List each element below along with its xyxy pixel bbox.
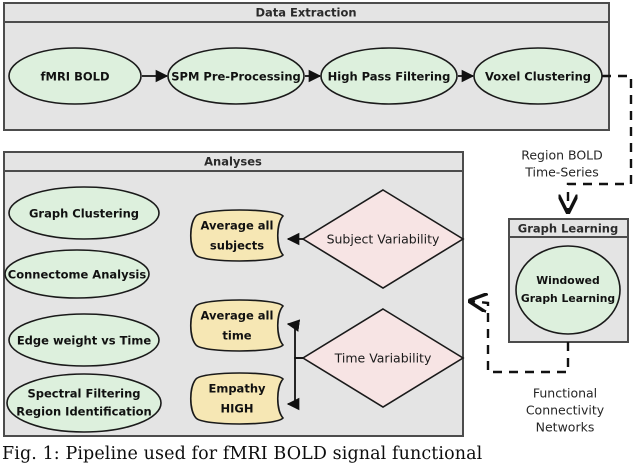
node-spectral-filtering[interactable] <box>7 374 161 432</box>
figure-caption-text: Fig. 1: Pipeline used for fMRI BOLD sign… <box>0 444 640 464</box>
node-windowed-graph-learning-line2: Graph Learning <box>521 292 615 305</box>
node-spectral-filtering-line2: Region Identification <box>16 405 151 419</box>
node-windowed-graph-learning-line1: Windowed <box>536 274 599 287</box>
node-empathy-high-line2: HIGH <box>221 402 254 416</box>
analyses-panel: Analyses Graph Clustering Connectome Ana… <box>4 152 463 436</box>
decision-subject-variability-label: Subject Variability <box>327 232 440 247</box>
node-voxel-clustering-label: Voxel Clustering <box>485 70 591 84</box>
figure-caption: Fig. 1: Pipeline used for fMRI BOLD sign… <box>0 444 640 464</box>
flow-label-functional-line2: Connectivity <box>526 403 605 418</box>
flow-label-functional-line3: Networks <box>536 420 595 435</box>
flow-label-region-bold-line2: Time-Series <box>524 165 599 180</box>
node-connectome-analysis-label: Connectome Analysis <box>8 268 147 282</box>
node-average-all-time-line2: time <box>222 329 251 343</box>
flow-label-functional-line1: Functional <box>533 386 597 401</box>
node-high-pass-filtering-label: High Pass Filtering <box>328 70 451 84</box>
flow-label-region-bold-line1: Region BOLD <box>521 148 603 163</box>
node-edge-weight-vs-time-label: Edge weight vs Time <box>17 334 152 348</box>
decision-time-variability-label: Time Variability <box>334 351 432 366</box>
analyses-title: Analyses <box>204 155 262 169</box>
node-average-all-subjects-line1: Average all <box>201 219 274 233</box>
pipeline-diagram: Data Extraction fMRI BOLD SPM Pre-Proces… <box>0 0 640 469</box>
node-spm-preprocessing-label: SPM Pre-Processing <box>171 70 301 84</box>
graph-learning-title: Graph Learning <box>518 222 618 236</box>
figure-canvas: Data Extraction fMRI BOLD SPM Pre-Proces… <box>0 0 640 469</box>
node-average-all-subjects-line2: subjects <box>210 239 264 253</box>
node-spectral-filtering-line1: Spectral Filtering <box>27 387 140 401</box>
node-graph-clustering-label: Graph Clustering <box>29 207 139 221</box>
node-fmri-bold-label: fMRI BOLD <box>41 70 110 84</box>
node-windowed-graph-learning[interactable] <box>516 246 620 334</box>
node-average-all-time-line1: Average all <box>201 309 274 323</box>
node-empathy-high-line1: Empathy <box>208 382 266 396</box>
graph-learning-panel: Graph Learning Windowed Graph Learning <box>509 219 628 342</box>
data-extraction-panel: Data Extraction fMRI BOLD SPM Pre-Proces… <box>4 3 609 130</box>
data-extraction-title: Data Extraction <box>255 6 356 20</box>
